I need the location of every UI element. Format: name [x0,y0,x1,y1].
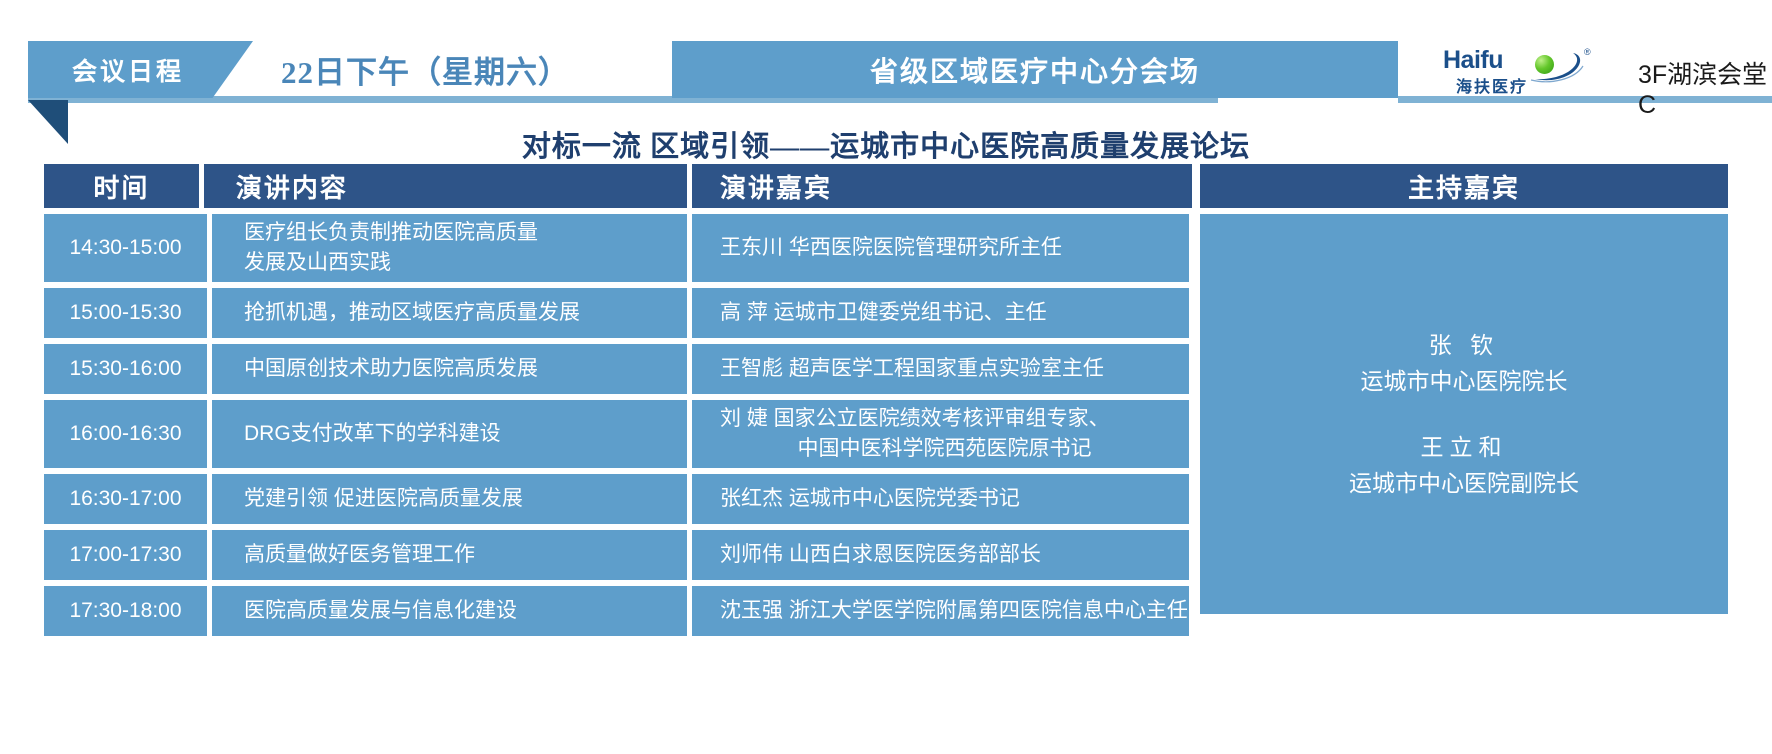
haifu-green-sphere-icon [1535,55,1554,74]
cell-speaker: 王东川 华西医院医院管理研究所主任 [692,214,1189,282]
host-column-wrapper: 主持嘉宾 张 钦 运城市中心医院院长 王立和 运城市中心医院副院长 [1200,164,1728,642]
cell-speaker-line1: 沈玉强 浙江大学医学院附属第四医院信息中心主任 [720,596,1189,626]
cell-speaker-line1: 王东川 华西医院医院管理研究所主任 [720,233,1189,263]
registered-mark-icon: ® [1584,47,1591,57]
cell-speaker: 刘师伟 山西白求恩医院医务部部长 [692,530,1189,580]
header-venue-label: 省级区域医疗中心分会场 [870,50,1200,90]
cell-speaker: 刘 婕 国家公立医院绩效考核评审组专家、 中国中医科学院西苑医院原书记 [692,400,1189,468]
cell-speaker: 王智彪 超声医学工程国家重点实验室主任 [692,344,1189,394]
column-header-topic: 演讲内容 [204,164,687,208]
cell-speaker: 高 萍 运城市卫健委党组书记、主任 [692,288,1189,338]
cell-speaker-line1: 高 萍 运城市卫健委党组书记、主任 [720,298,1189,328]
cell-speaker-line1: 刘 婕 国家公立医院绩效考核评审组专家、 [720,404,1189,434]
table-row: 14:30-15:00 医疗组长负责制推动医院高质量 发展及山西实践 王东川 华… [44,214,1192,282]
cell-topic-line1: 中国原创技术助力医院高质发展 [244,354,687,384]
cell-topic-line1: 医院高质量发展与信息化建设 [244,596,687,626]
cell-time: 16:30-17:00 [44,474,207,524]
host-title-2: 运城市中心医院副院长 [1349,465,1579,501]
cell-time: 17:00-17:30 [44,530,207,580]
table-row: 15:30-16:00 中国原创技术助力医院高质发展 王智彪 超声医学工程国家重… [44,344,1192,394]
table-header-row: 时间 演讲内容 演讲嘉宾 [44,164,1192,208]
cell-topic-line1: DRG支付改革下的学科建设 [244,419,687,449]
cell-topic-line2: 发展及山西实践 [244,248,687,278]
cell-time: 17:30-18:00 [44,586,207,636]
table-row: 17:00-17:30 高质量做好医务管理工作 刘师伟 山西白求恩医院医务部部长 [44,530,1192,580]
host-name-2: 王立和 [1421,429,1508,465]
cell-topic: 党建引领 促进医院高质量发展 [212,474,687,524]
haifu-logo: Haifu ® 海扶医疗 [1443,45,1603,97]
column-header-time: 时间 [44,164,199,208]
schedule-table: 时间 演讲内容 演讲嘉宾 14:30-15:00 医疗组长负责制推动医院高质量 … [44,164,1728,642]
cell-topic-line1: 抢抓机遇，推动区域医疗高质量发展 [244,298,687,328]
cell-time: 15:30-16:00 [44,344,207,394]
cell-topic: 医疗组长负责制推动医院高质量 发展及山西实践 [212,214,687,282]
host-title-1: 运城市中心医院院长 [1361,363,1568,399]
cell-host-merged: 张 钦 运城市中心医院院长 王立和 运城市中心医院副院长 [1200,214,1728,614]
schedule-main-columns: 时间 演讲内容 演讲嘉宾 14:30-15:00 医疗组长负责制推动医院高质量 … [44,164,1192,642]
cell-topic-line1: 党建引领 促进医院高质量发展 [244,484,687,514]
haifu-logo-wordmark: Haifu [1443,46,1503,75]
cell-time: 14:30-15:00 [44,214,207,282]
table-row: 17:30-18:00 医院高质量发展与信息化建设 沈玉强 浙江大学医学院附属第… [44,586,1192,636]
cell-topic-line1: 高质量做好医务管理工作 [244,540,687,570]
cell-topic: 抢抓机遇，推动区域医疗高质量发展 [212,288,687,338]
header-venue: 省级区域医疗中心分会场 [672,41,1398,98]
cell-speaker: 张红杰 运城市中心医院党委书记 [692,474,1189,524]
cell-speaker-line2: 中国中医科学院西苑医院原书记 [720,434,1189,464]
header-date: 22日下午（星期六） [253,41,598,98]
host-name-1: 张 钦 [1429,327,1499,363]
agenda-tab-label: 会议日程 [72,52,184,88]
table-row: 16:00-16:30 DRG支付改革下的学科建设 刘 婕 国家公立医院绩效考核… [44,400,1192,468]
cell-topic-line1: 医疗组长负责制推动医院高质量 [244,218,687,248]
table-row: 16:30-17:00 党建引领 促进医院高质量发展 张红杰 运城市中心医院党委… [44,474,1192,524]
haifu-logo-chinese: 海扶医疗 [1456,73,1528,97]
cell-speaker: 沈玉强 浙江大学医学院附属第四医院信息中心主任 [692,586,1189,636]
cell-topic: 医院高质量发展与信息化建设 [212,586,687,636]
header-date-label: 22日下午（星期六） [281,47,570,92]
cell-speaker-line1: 刘师伟 山西白求恩医院医务部部长 [720,540,1189,570]
cell-speaker-line1: 王智彪 超声医学工程国家重点实验室主任 [720,354,1189,384]
table-row: 15:00-15:30 抢抓机遇，推动区域医疗高质量发展 高 萍 运城市卫健委党… [44,288,1192,338]
cell-topic: DRG支付改革下的学科建设 [212,400,687,468]
cell-time: 16:00-16:30 [44,400,207,468]
hall-location-label: 3F湖滨会堂C [1638,55,1772,120]
cell-topic: 高质量做好医务管理工作 [212,530,687,580]
cell-speaker-line1: 张红杰 运城市中心医院党委书记 [720,484,1189,514]
cell-time: 15:00-15:30 [44,288,207,338]
forum-subtitle: 对标一流 区域引领——运城市中心医院高质量发展论坛 [0,123,1772,165]
column-header-speaker: 演讲嘉宾 [692,164,1192,208]
cell-topic: 中国原创技术助力医院高质发展 [212,344,687,394]
agenda-tab: 会议日程 [28,41,253,98]
column-header-host: 主持嘉宾 [1200,164,1728,208]
